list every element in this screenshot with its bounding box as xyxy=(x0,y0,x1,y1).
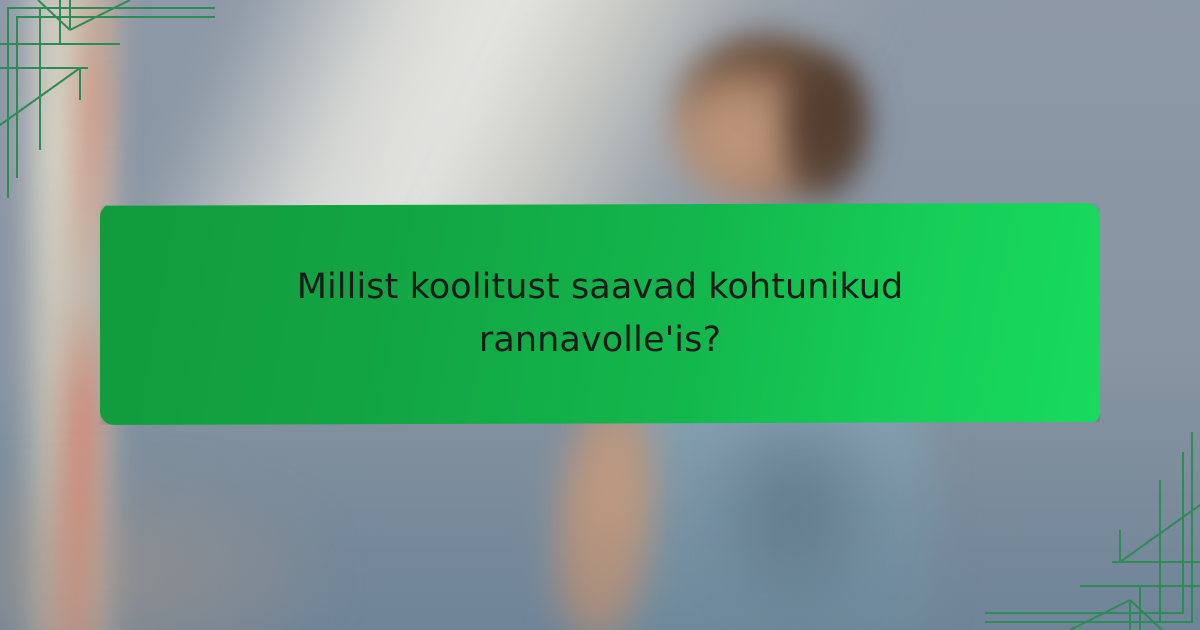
share-card: Millist koolitust saavad kohtunikud rann… xyxy=(0,0,1200,630)
question-banner: Millist koolitust saavad kohtunikud rann… xyxy=(100,203,1100,425)
question-text: Millist koolitust saavad kohtunikud rann… xyxy=(150,261,1050,367)
